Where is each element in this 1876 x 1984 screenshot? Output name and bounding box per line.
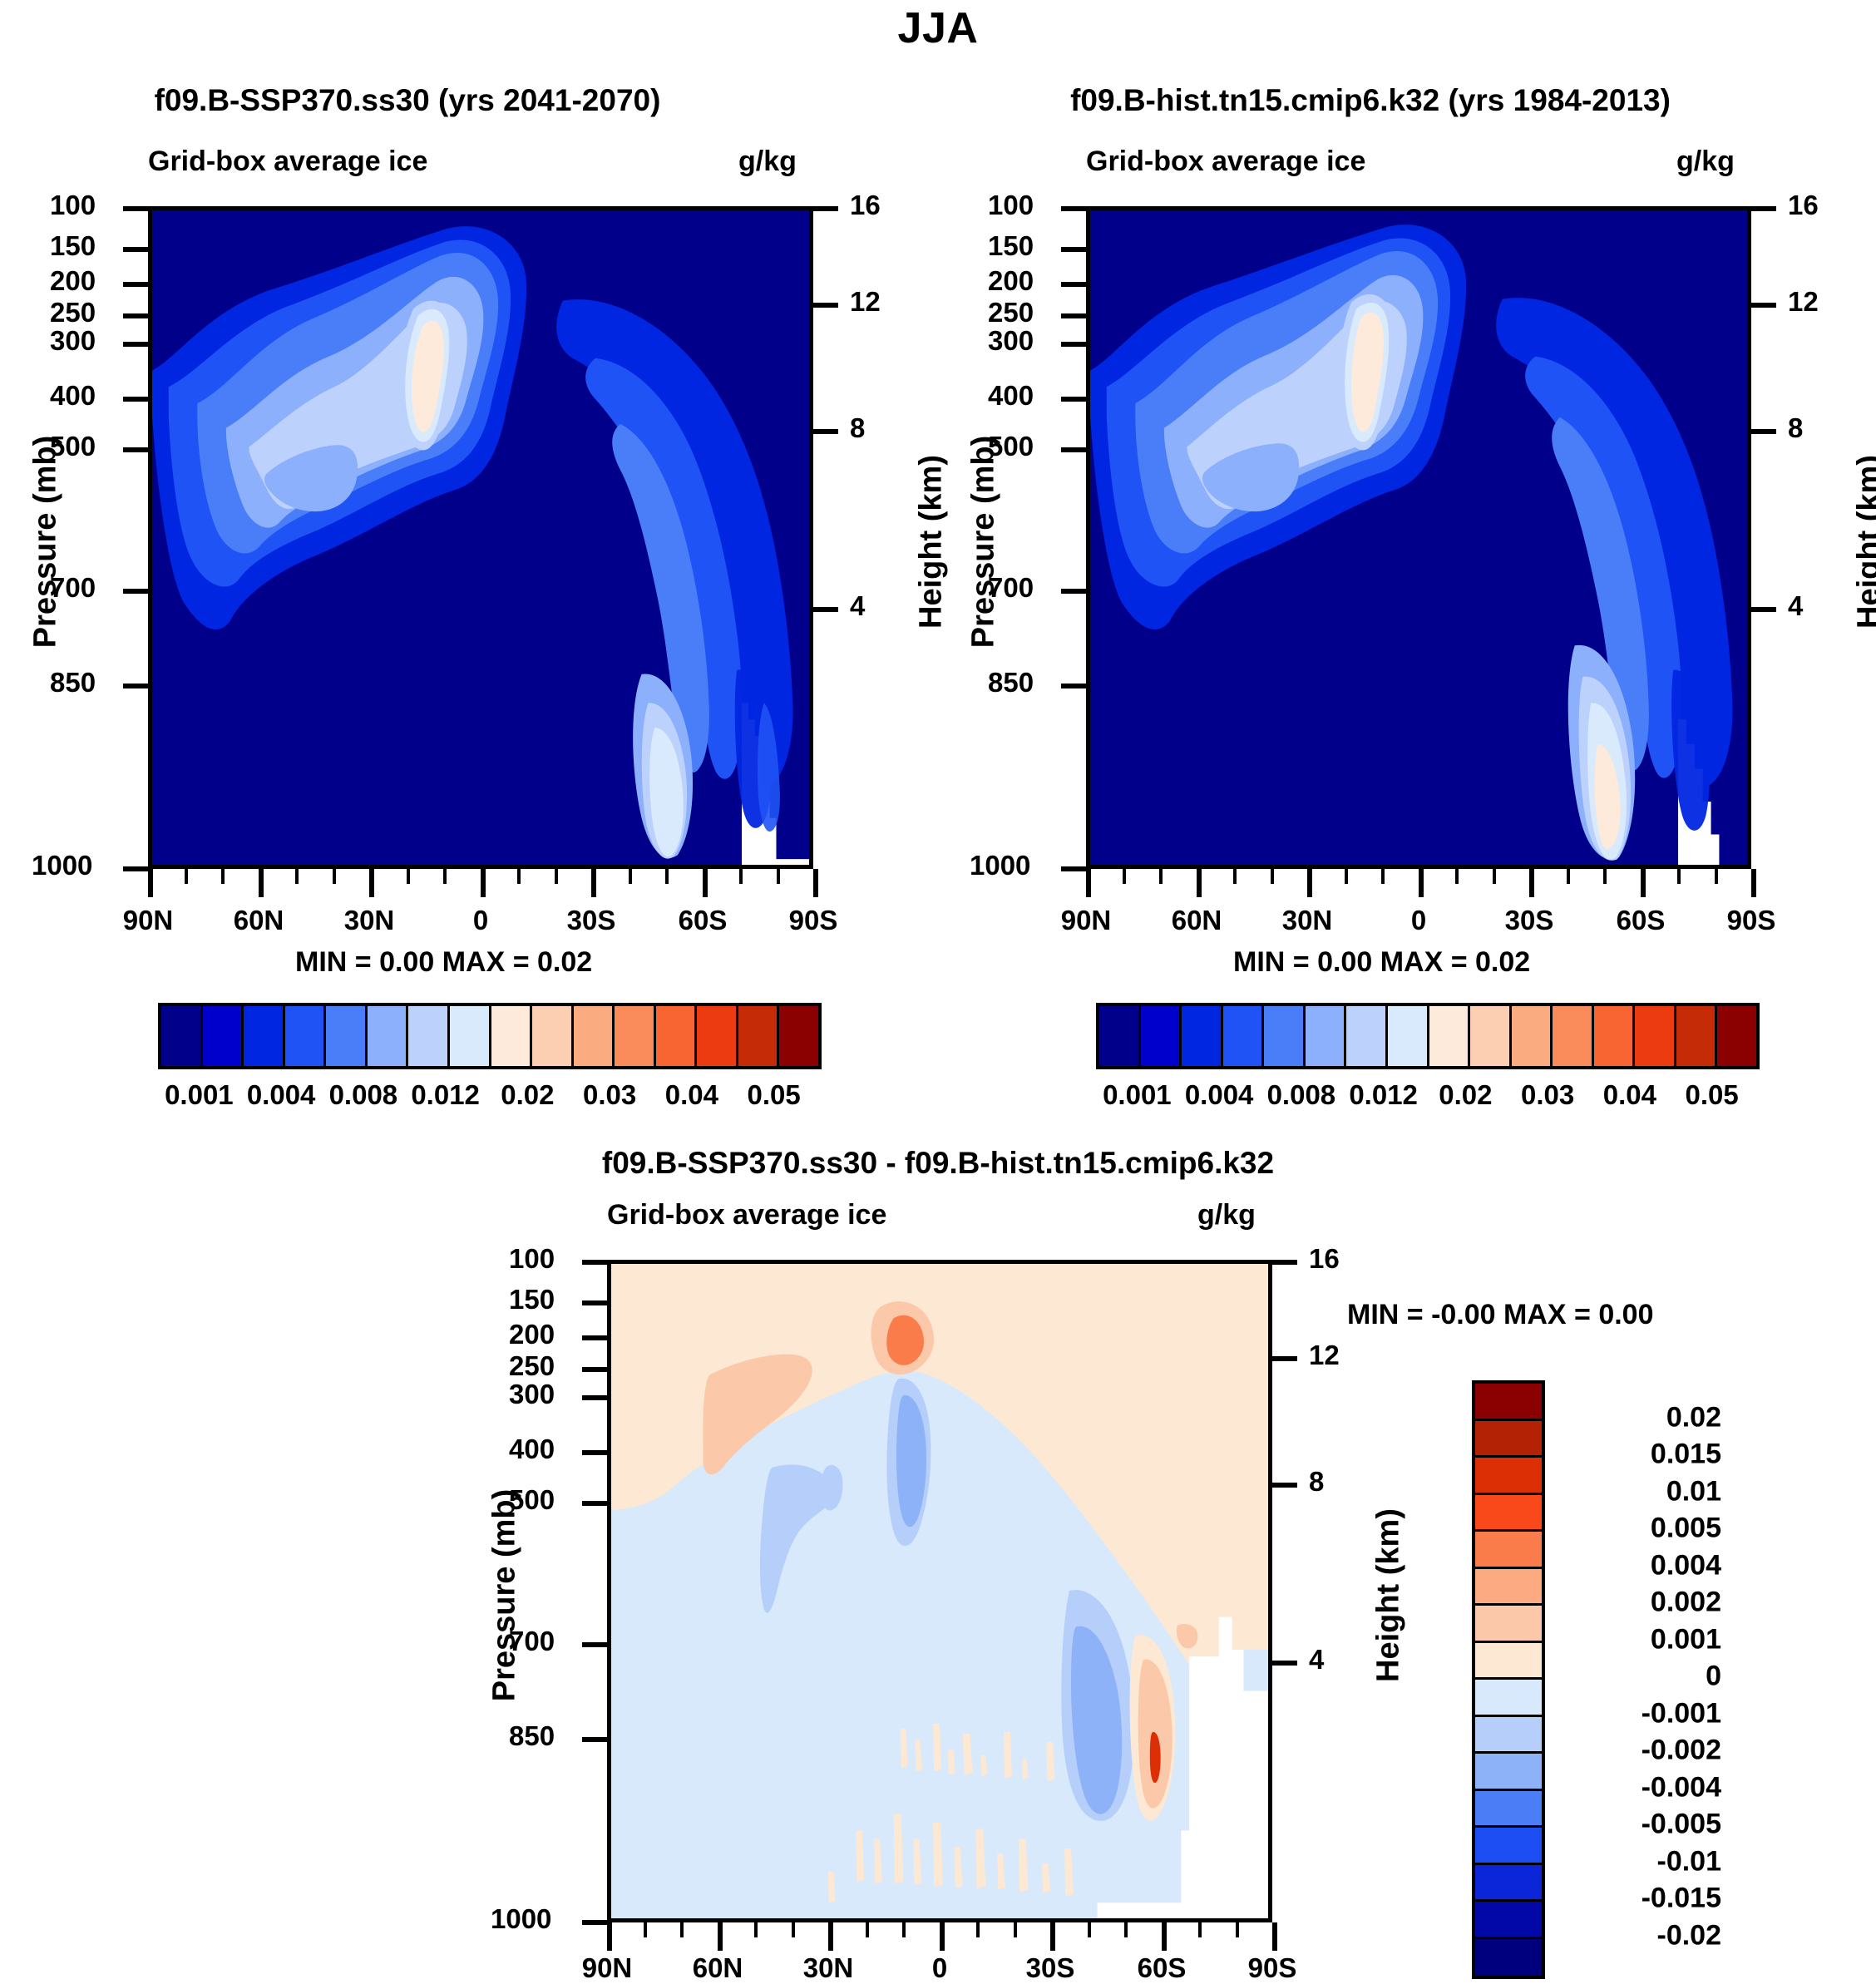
ytick-label: 150 (509, 1284, 555, 1315)
figure-root: JJA f09.B-SSP370.ss30 (yrs 2041-2070) Gr… (0, 0, 1876, 1982)
colorbar-swatch (1475, 1680, 1542, 1717)
y2tick-label: 4 (1788, 590, 1803, 622)
colorbar-swatch (450, 1006, 491, 1066)
xtick-label: 30S (567, 905, 616, 936)
panel-top-left-title: f09.B-SSP370.ss30 (yrs 2041-2070) (50, 83, 765, 118)
colorbar-tick-label: 0.012 (1349, 1079, 1418, 1111)
panel-top-right-height-axis-title: Height (km) (1852, 405, 1876, 679)
ytick-label: 200 (50, 265, 96, 297)
y2tick-label: 12 (1309, 1340, 1340, 1371)
colorbar-swatch (1475, 1495, 1542, 1532)
colorbar-tick-label: -0.002 (1641, 1735, 1721, 1767)
xtick-label: 60N (693, 1952, 743, 1984)
colorbar-swatch (1475, 1569, 1542, 1606)
y2tick-label: 12 (1788, 286, 1819, 318)
colorbar-tick-label: 0.008 (329, 1079, 398, 1111)
xtick-label: 0 (473, 905, 488, 936)
colorbar-swatch (1553, 1006, 1594, 1066)
colorbar-tick-label: 0.05 (1686, 1079, 1739, 1111)
panel-bottom-diff-units-label: g/kg (1197, 1199, 1256, 1231)
colorbar-tick-label: 0.008 (1267, 1079, 1336, 1111)
colorbar-swatch (161, 1006, 203, 1066)
panel-top-left-units-label: g/kg (738, 146, 797, 178)
colorbar-tick-label: 0.05 (748, 1079, 801, 1111)
colorbar-tick-label: 0.004 (1651, 1549, 1721, 1582)
colorbar-swatch (1429, 1006, 1471, 1066)
ytick-label: 1000 (32, 850, 92, 881)
ytick-label: 100 (988, 190, 1034, 221)
ytick-label: 1000 (491, 1903, 551, 1935)
xtick-label: 30N (344, 905, 395, 936)
panel-top-left-colorbar[interactable] (158, 1003, 822, 1069)
y2tick-label: 8 (1788, 412, 1803, 444)
colorbar-swatch (1475, 1865, 1542, 1903)
panel-top-right-plot (1086, 206, 1751, 869)
colorbar-tick-label: 0.01 (1666, 1475, 1721, 1508)
colorbar-swatch (697, 1006, 738, 1066)
colorbar-swatch (1475, 1828, 1542, 1865)
colorbar-swatch (1141, 1006, 1182, 1066)
y2tick-label: 4 (1309, 1644, 1324, 1676)
colorbar-tick-label: 0.004 (1185, 1079, 1254, 1111)
colorbar-swatch (244, 1006, 285, 1066)
colorbar-swatch (574, 1006, 615, 1066)
ytick-label: 250 (988, 297, 1034, 328)
ytick-label: 250 (509, 1350, 555, 1382)
colorbar-swatch (1475, 1421, 1542, 1458)
colorbar-tick-label: -0.005 (1641, 1809, 1721, 1841)
colorbar-tick-label: 0.001 (1103, 1079, 1172, 1111)
colorbar-swatch (1717, 1006, 1756, 1066)
panel-bottom-diff-minmax: MIN = -0.00 MAX = 0.00 (1347, 1299, 1654, 1331)
y2tick-label: 16 (850, 190, 881, 221)
panel-bottom-diff-pressure-axis-title: Pressure (mb) (487, 1458, 523, 1733)
colorbar-tick-label: 0.03 (1521, 1079, 1574, 1111)
colorbar-tick-label: -0.01 (1657, 1845, 1722, 1878)
panel-top-right-variable-label: Grid-box average ice (1086, 146, 1365, 178)
panel-bottom-diff-colorbar[interactable] (1472, 1380, 1545, 1979)
xtick-label: 30N (1282, 905, 1333, 936)
panel-top-right-contours (1090, 210, 1747, 865)
colorbar-tick-label: 0.02 (501, 1079, 554, 1111)
colorbar-swatch (1182, 1006, 1223, 1066)
panel-top-right-units-label: g/kg (1676, 146, 1735, 178)
colorbar-swatch (532, 1006, 574, 1066)
panel-top-left-variable-label: Grid-box average ice (148, 146, 427, 178)
colorbar-swatch (1475, 1791, 1542, 1829)
colorbar-swatch (1306, 1006, 1347, 1066)
ytick-label: 200 (988, 265, 1034, 297)
colorbar-tick-label: -0.02 (1657, 1919, 1722, 1952)
colorbar-swatch (1099, 1006, 1141, 1066)
xtick-label: 90S (789, 905, 838, 936)
panel-top-right-minmax: MIN = 0.00 MAX = 0.02 (1233, 946, 1530, 979)
colorbar-swatch (1475, 1532, 1542, 1569)
colorbar-swatch (1635, 1006, 1676, 1066)
ytick-label: 250 (50, 297, 96, 328)
colorbar-tick-label: 0.04 (1603, 1079, 1656, 1111)
colorbar-tick-label: 0.004 (247, 1079, 316, 1111)
colorbar-swatch (1676, 1006, 1718, 1066)
xtick-label: 30S (1026, 1952, 1075, 1984)
panel-bottom-diff-variable-label: Grid-box average ice (607, 1199, 886, 1231)
y2tick-label: 12 (850, 286, 881, 318)
colorbar-swatch (1475, 1754, 1542, 1791)
xtick-label: 60S (679, 905, 728, 936)
colorbar-swatch (1264, 1006, 1306, 1066)
panel-top-right-colorbar[interactable] (1096, 1003, 1760, 1069)
ytick-label: 300 (50, 325, 96, 357)
colorbar-swatch (203, 1006, 244, 1066)
panel-top-right-colorbar-labels: 0.0010.0040.0080.0120.020.030.040.05 (1096, 1079, 1753, 1116)
y2tick-label: 8 (850, 412, 865, 444)
colorbar-swatch (1388, 1006, 1429, 1066)
y2tick-label: 8 (1309, 1466, 1324, 1498)
panel-top-left-minmax: MIN = 0.00 MAX = 0.02 (295, 946, 592, 979)
panel-top-left-colorbar-labels: 0.0010.0040.0080.0120.020.030.040.05 (158, 1079, 815, 1116)
colorbar-tick-label: -0.004 (1641, 1771, 1721, 1804)
colorbar-tick-label: 0.012 (411, 1079, 480, 1111)
colorbar-tick-label: -0.015 (1641, 1883, 1721, 1915)
panel-top-right-title: f09.B-hist.tn15.cmip6.k32 (yrs 1984-2013… (955, 83, 1786, 118)
colorbar-swatch (1475, 1939, 1542, 1977)
xtick-label: 0 (1411, 905, 1426, 936)
colorbar-tick-label: 0 (1706, 1661, 1721, 1693)
ytick-label: 300 (509, 1379, 555, 1410)
colorbar-tick-label: 0.03 (583, 1079, 636, 1111)
colorbar-swatch (285, 1006, 327, 1066)
xtick-label: 90N (1061, 905, 1112, 936)
colorbar-tick-label: 0.002 (1651, 1587, 1721, 1619)
colorbar-swatch (1594, 1006, 1636, 1066)
colorbar-swatch (1475, 1606, 1542, 1643)
xtick-label: 90N (582, 1952, 633, 1984)
xtick-label: 30N (803, 1952, 854, 1984)
colorbar-tick-label: 0.04 (665, 1079, 718, 1111)
xtick-label: 90S (1727, 905, 1776, 936)
colorbar-swatch (779, 1006, 818, 1066)
colorbar-swatch (1475, 1902, 1542, 1939)
colorbar-swatch (1470, 1006, 1512, 1066)
ytick-label: 300 (988, 325, 1034, 357)
y2tick-label: 16 (1788, 190, 1819, 221)
figure-suptitle: JJA (0, 3, 1876, 53)
colorbar-swatch (615, 1006, 656, 1066)
colorbar-tick-label: -0.001 (1641, 1697, 1721, 1730)
colorbar-swatch (326, 1006, 368, 1066)
panel-top-right-pressure-axis-title: Pressure (mb) (966, 405, 1002, 679)
panel-top-left-contours (152, 210, 809, 865)
xtick-label: 0 (932, 1952, 947, 1984)
ytick-label: 150 (988, 230, 1034, 262)
panel-top-left-height-axis-title: Height (km) (914, 405, 950, 679)
colorbar-tick-label: 0.005 (1651, 1513, 1721, 1545)
ytick-label: 1000 (970, 850, 1030, 881)
colorbar-tick-label: 0.02 (1666, 1401, 1721, 1434)
colorbar-swatch (738, 1006, 780, 1066)
colorbar-swatch (1475, 1458, 1542, 1495)
colorbar-tick-label: 0.02 (1439, 1079, 1492, 1111)
colorbar-swatch (408, 1006, 450, 1066)
panel-top-left-pressure-axis-title: Pressure (mb) (28, 405, 64, 679)
panel-bottom-diff-title: f09.B-SSP370.ss30 - f09.B-hist.tn15.cmip… (439, 1146, 1437, 1181)
ytick-label: 100 (509, 1243, 555, 1275)
colorbar-swatch (368, 1006, 409, 1066)
colorbar-tick-label: 0.001 (165, 1079, 234, 1111)
colorbar-tick-label: 0.001 (1651, 1623, 1721, 1656)
panel-bottom-diff-plot (607, 1260, 1272, 1922)
xtick-label: 90S (1248, 1952, 1297, 1984)
panel-bottom-diff-colorbar-labels: 0.020.0150.010.0050.0040.0020.0010-0.001… (1563, 1380, 1721, 1972)
colorbar-swatch (1512, 1006, 1553, 1066)
xtick-label: 60N (234, 905, 284, 936)
colorbar-swatch (1475, 1384, 1542, 1421)
xtick-label: 90N (123, 905, 174, 936)
ytick-label: 100 (50, 190, 96, 221)
y2tick-label: 4 (850, 590, 865, 622)
panel-bottom-diff-height-axis-title: Height (km) (1371, 1458, 1407, 1733)
ytick-label: 150 (50, 230, 96, 262)
colorbar-tick-label: 0.015 (1651, 1439, 1721, 1471)
colorbar-swatch (1346, 1006, 1388, 1066)
colorbar-swatch (656, 1006, 698, 1066)
panel-top-left-plot (148, 206, 813, 869)
colorbar-swatch (1475, 1717, 1542, 1755)
xtick-label: 60S (1617, 905, 1666, 936)
colorbar-swatch (1475, 1643, 1542, 1680)
y2tick-label: 16 (1309, 1243, 1340, 1275)
xtick-label: 60N (1172, 905, 1222, 936)
xtick-label: 30S (1505, 905, 1554, 936)
colorbar-swatch (1223, 1006, 1265, 1066)
ytick-label: 200 (509, 1319, 555, 1350)
colorbar-swatch (491, 1006, 533, 1066)
xtick-label: 60S (1138, 1952, 1187, 1984)
panel-bottom-diff-contours (611, 1264, 1268, 1918)
